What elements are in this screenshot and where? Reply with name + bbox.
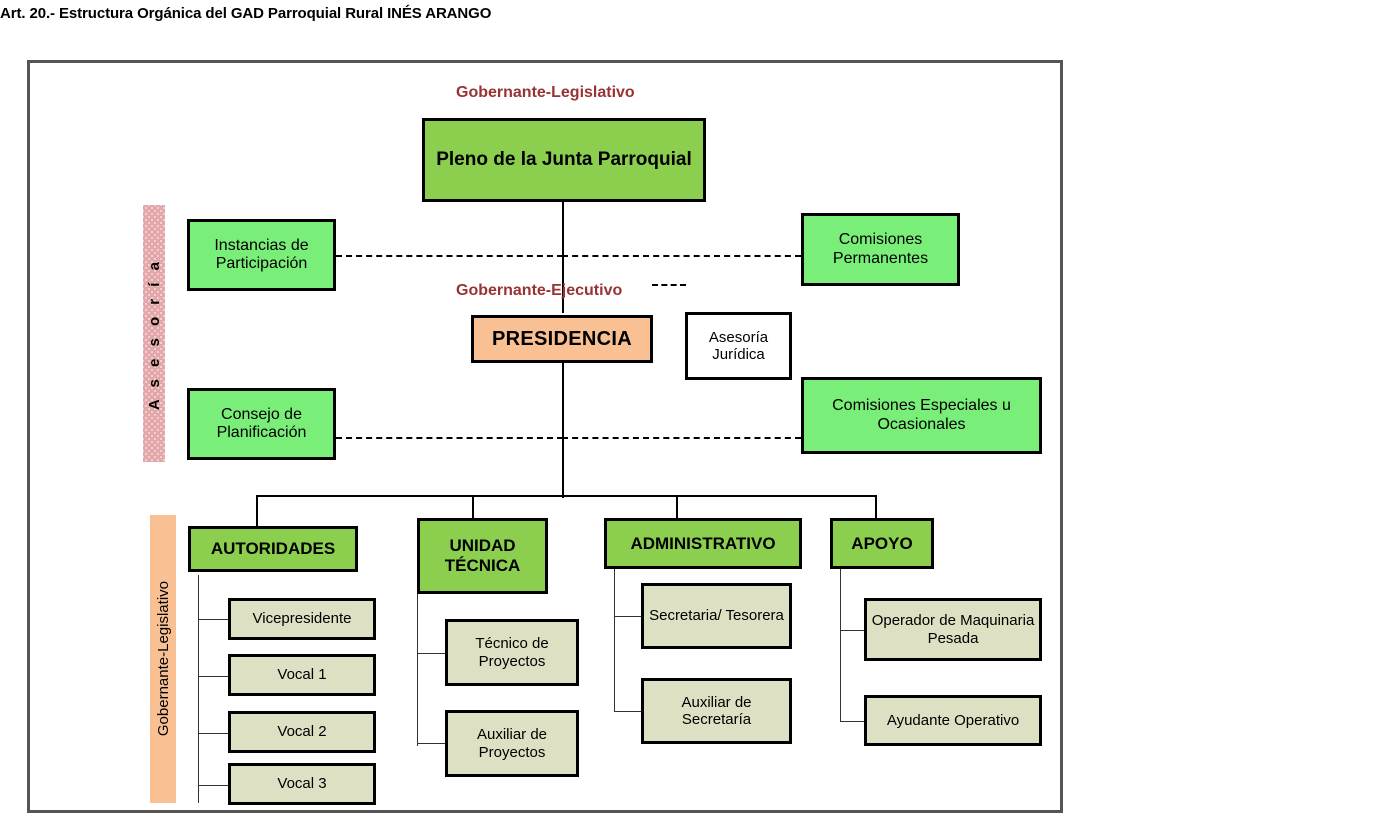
node-comisiones-permanentes[interactable]: Comisiones Permanentes: [801, 213, 960, 286]
connector-unidad-tecnica-branch-1: [417, 653, 445, 654]
node-unidad-tecnica[interactable]: UNIDAD TÉCNICA: [417, 518, 548, 594]
node-operador-maquinaria-pesada[interactable]: Operador de Maquinaria Pesada: [864, 598, 1042, 661]
connector-autoridades-branch-1: [198, 619, 228, 620]
node-consejo-planificacion[interactable]: Consejo de Planificación: [187, 388, 336, 460]
connector-drop-autoridades: [256, 495, 258, 528]
connector-unidad-tecnica-branch-2: [417, 743, 445, 744]
caption-gobernante-legislativo: Gobernante-Legislativo: [456, 84, 635, 102]
connector-apoyo-branch-2: [840, 721, 864, 722]
node-vicepresidente[interactable]: Vicepresidente: [228, 598, 376, 640]
band-asesoria-label: A s e s o r í a: [146, 258, 163, 410]
caption-gobernante-ejecutivo: Gobernante-Ejecutivo: [456, 282, 622, 300]
connector-asesoria-juridica-dashed: [652, 284, 686, 286]
node-auxiliar-de-proyectos[interactable]: Auxiliar de Proyectos: [445, 710, 579, 777]
node-vocal-2[interactable]: Vocal 2: [228, 711, 376, 753]
connector-apoyo-rail: [840, 569, 841, 721]
connector-autoridades-branch-2: [198, 676, 228, 677]
node-pleno-junta-parroquial[interactable]: Pleno de la Junta Parroquial: [422, 118, 706, 202]
node-secretaria-tesorera[interactable]: Secretaria/ Tesorera: [641, 583, 792, 649]
node-asesoria-juridica[interactable]: Asesoría Jurídica: [685, 312, 792, 380]
node-vocal-1[interactable]: Vocal 1: [228, 654, 376, 696]
node-instancias-participacion[interactable]: Instancias de Participación: [187, 219, 336, 291]
connector-autoridades-branch-4: [198, 785, 228, 786]
connector-administrativo-branch-2: [614, 711, 641, 712]
node-auxiliar-de-secretaria[interactable]: Auxiliar de Secretaría: [641, 678, 792, 744]
connector-comisiones-especiales-dashed: [562, 437, 801, 439]
band-gobernante-legislativo: Gobernante-Legislativo: [150, 515, 176, 803]
connector-autoridades-rail: [198, 575, 199, 803]
org-chart-frame: Gobernante-Legislativo Gobernante-Ejecut…: [27, 60, 1063, 813]
band-gobernante-legislativo-label: Gobernante-Legislativo: [155, 581, 172, 736]
node-presidencia[interactable]: PRESIDENCIA: [471, 315, 653, 363]
connector-unidad-tecnica-rail: [417, 594, 418, 746]
connector-instancias-dashed: [336, 255, 563, 257]
node-tecnico-de-proyectos[interactable]: Técnico de Proyectos: [445, 619, 579, 686]
node-vocal-3[interactable]: Vocal 3: [228, 763, 376, 805]
node-autoridades[interactable]: AUTORIDADES: [188, 526, 358, 572]
node-ayudante-operativo[interactable]: Ayudante Operativo: [864, 695, 1042, 746]
node-administrativo[interactable]: ADMINISTRATIVO: [604, 518, 802, 569]
connector-comisiones-permanentes-dashed: [562, 255, 801, 257]
connector-apoyo-branch-1: [840, 630, 864, 631]
connector-administrativo-rail: [614, 569, 615, 712]
node-apoyo[interactable]: APOYO: [830, 518, 934, 569]
connector-autoridades-branch-3: [198, 733, 228, 734]
connector-department-bus: [256, 495, 876, 497]
band-asesoria: A s e s o r í a: [143, 205, 165, 462]
connector-administrativo-branch-1: [614, 616, 641, 617]
page-title: Art. 20.- Estructura Orgánica del GAD Pa…: [0, 5, 491, 22]
connector-consejo-dashed: [336, 437, 563, 439]
node-comisiones-especiales[interactable]: Comisiones Especiales u Ocasionales: [801, 377, 1042, 454]
